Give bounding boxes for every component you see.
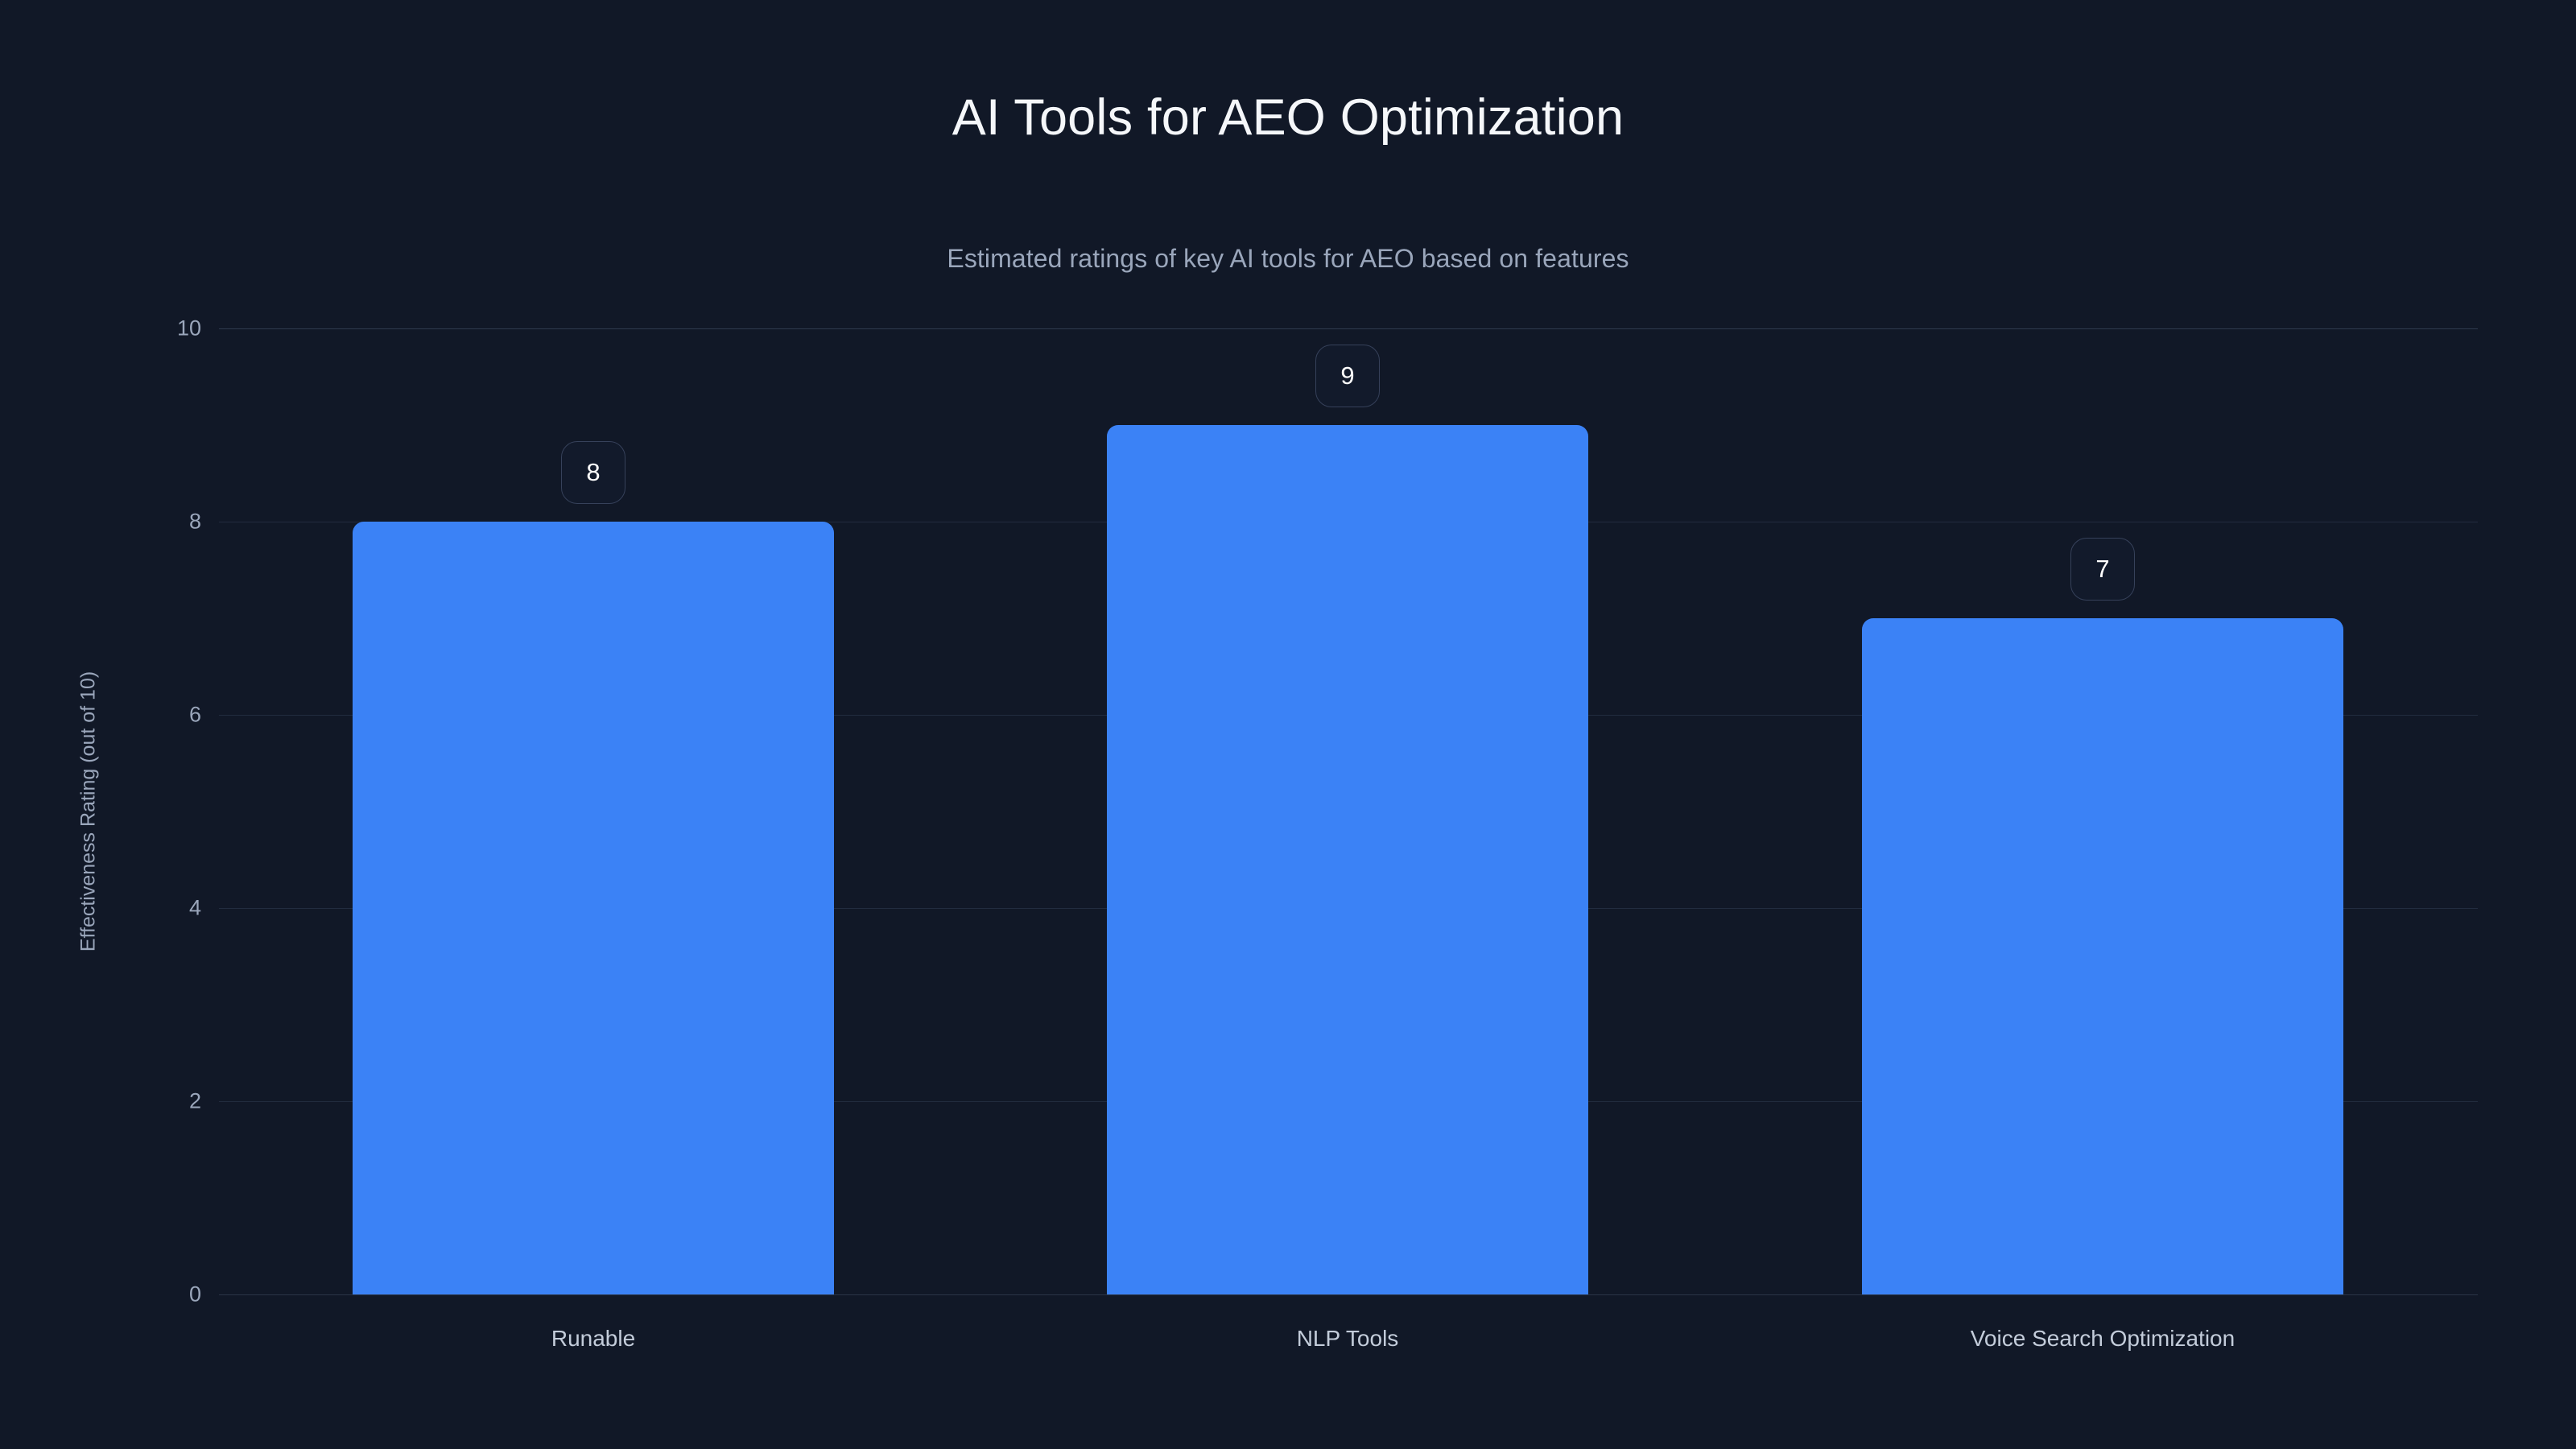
chart-canvas: AI Tools for AEO Optimization Estimated …	[0, 0, 2576, 1449]
bar-runable[interactable]	[353, 522, 834, 1294]
chart-subtitle: Estimated ratings of key AI tools for AE…	[0, 244, 2576, 274]
y-tick-label-8: 8	[105, 510, 201, 535]
y-axis-title: Effectiveness Rating (out of 10)	[77, 671, 101, 952]
bar-nlp-tools[interactable]	[1107, 425, 1588, 1294]
gridline-10	[219, 328, 2478, 329]
x-tick-label-nlp-tools: NLP Tools	[1297, 1326, 1399, 1352]
value-badge-text: 9	[1340, 361, 1354, 390]
y-tick-label-4: 4	[105, 896, 201, 921]
x-tick-label-voice-search-optimization: Voice Search Optimization	[1971, 1326, 2235, 1352]
bar-voice-search-optimization[interactable]	[1862, 618, 2343, 1294]
value-badge-nlp-tools[interactable]: 9	[1315, 345, 1380, 407]
x-tick-label-runable: Runable	[551, 1326, 635, 1352]
y-tick-label-6: 6	[105, 703, 201, 728]
value-badge-text: 7	[2095, 555, 2109, 584]
y-tick-label-10: 10	[105, 316, 201, 341]
value-badge-voice-search-optimization[interactable]: 7	[2070, 538, 2135, 601]
chart-title: AI Tools for AEO Optimization	[0, 90, 2576, 146]
plot-area	[219, 328, 2478, 1294]
value-badge-text: 8	[586, 458, 600, 487]
gridline-0	[219, 1294, 2478, 1295]
y-tick-label-2: 2	[105, 1089, 201, 1114]
y-tick-label-0: 0	[105, 1282, 201, 1307]
value-badge-runable[interactable]: 8	[561, 441, 625, 504]
